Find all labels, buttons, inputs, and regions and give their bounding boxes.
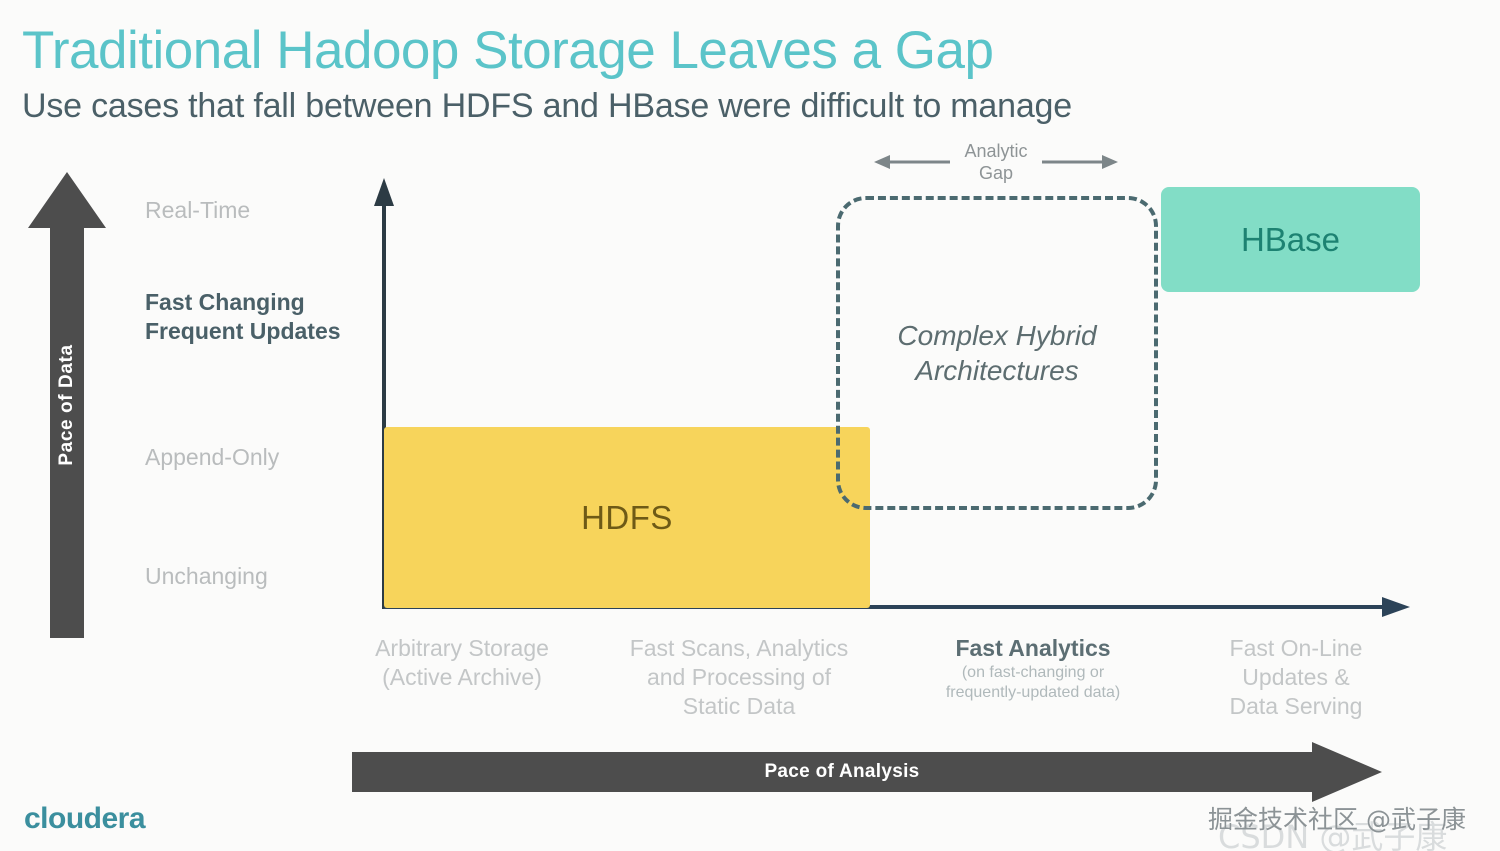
complex-hybrid-architectures-text: Complex Hybrid Architectures [897, 318, 1096, 388]
watermark-juejin: 掘金技术社区 @武子康 [1208, 800, 1466, 836]
x-axis-label-2-sub1: (on fast-changing or [908, 663, 1158, 683]
y-axis-label-fast-changing: Fast Changing Frequent Updates [145, 288, 341, 346]
x-axis-label-3-line3: Data Serving [1230, 693, 1363, 719]
analytic-gap-line2: Gap [979, 163, 1013, 183]
page-subtitle: Use cases that fall between HDFS and HBa… [22, 84, 1072, 128]
pace-of-data-label: Pace of Data [56, 344, 78, 465]
slide-canvas: Traditional Hadoop Storage Leaves a Gap … [0, 0, 1500, 851]
x-axis-label-fast-analytics: Fast Analytics (on fast-changing or freq… [908, 634, 1158, 703]
analytic-gap-text: Analytic Gap [872, 140, 1120, 184]
pace-of-analysis-arrow: Pace of Analysis [352, 742, 1382, 802]
x-axis-label-3-line1: Fast On-Line [1230, 635, 1363, 661]
hbase-region[interactable]: HBase [1161, 187, 1420, 292]
x-axis-label-fast-online-updates: Fast On-Line Updates & Data Serving [1180, 634, 1412, 721]
complex-hybrid-architectures-region[interactable]: Complex Hybrid Architectures [836, 196, 1158, 510]
y-axis-label-fast-changing-line1: Fast Changing [145, 288, 341, 317]
gap-text-line2: Architectures [915, 355, 1078, 386]
y-axis-label-append-only: Append-Only [145, 443, 279, 472]
x-axis-label-2-sub2: frequently-updated data) [908, 683, 1158, 703]
y-axis-label-unchanging: Unchanging [145, 562, 268, 591]
analytic-gap-line1: Analytic [964, 141, 1027, 161]
analytic-gap-annotation: Analytic Gap [872, 140, 1120, 188]
x-axis-label-0-line1: Arbitrary Storage [375, 635, 549, 661]
x-axis-label-1-line3: Static Data [683, 693, 796, 719]
x-axis-label-3-line2: Updates & [1242, 664, 1349, 690]
x-axis-label-0-line2: (Active Archive) [382, 664, 542, 690]
x-axis-label-fast-scans: Fast Scans, Analytics and Processing of … [604, 634, 874, 721]
page-title: Traditional Hadoop Storage Leaves a Gap [22, 20, 993, 82]
gap-text-line1: Complex Hybrid [897, 320, 1096, 351]
pace-of-analysis-label: Pace of Analysis [352, 742, 1332, 802]
x-axis-label-2-line1: Fast Analytics [955, 635, 1110, 661]
x-axis-label-1-line1: Fast Scans, Analytics [630, 635, 849, 661]
y-axis-arrowhead [374, 178, 394, 206]
y-axis-label-real-time: Real-Time [145, 196, 250, 225]
hdfs-region[interactable]: HDFS [384, 427, 870, 608]
cloudera-logo: cloudera [24, 802, 145, 836]
pace-of-data-arrow: Pace of Data [28, 172, 106, 638]
hdfs-label: HDFS [581, 499, 673, 537]
x-axis-label-arbitrary-storage: Arbitrary Storage (Active Archive) [338, 634, 586, 692]
y-axis-label-fast-changing-line2: Frequent Updates [145, 317, 341, 346]
x-axis-label-1-line2: and Processing of [647, 664, 831, 690]
x-axis-arrowhead [1382, 597, 1410, 617]
hbase-label: HBase [1241, 221, 1340, 259]
